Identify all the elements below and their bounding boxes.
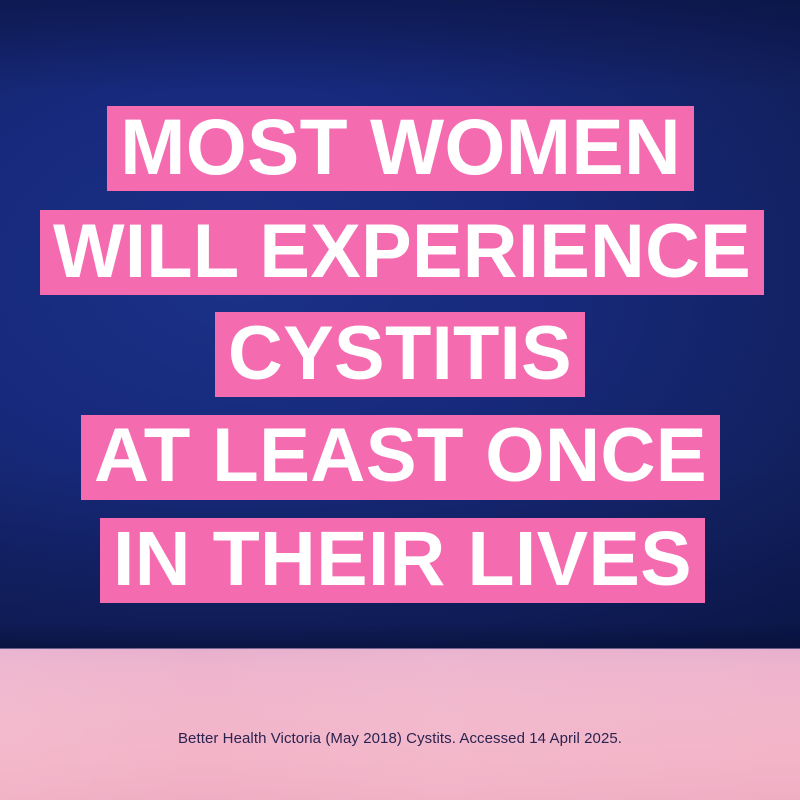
headline-bar-4: AT LEAST ONCE — [81, 415, 720, 500]
headline-line-4-text: AT LEAST ONCE — [94, 418, 707, 494]
headline-bar-2: WILL EXPERIENCE — [40, 210, 764, 295]
poster-canvas: MOST WOMEN WILL EXPERIENCE CYSTITIS AT L… — [0, 0, 800, 800]
headline-bar-1: MOST WOMEN — [107, 106, 694, 191]
headline-bar-3: CYSTITIS — [215, 312, 585, 397]
background-pink-sheen — [0, 649, 800, 800]
headline-line-5-text: IN THEIR LIVES — [113, 521, 692, 598]
headline-line-3-text: CYSTITIS — [228, 316, 572, 392]
headline-line-1-text: MOST WOMEN — [120, 108, 681, 186]
headline-bar-5: IN THEIR LIVES — [100, 518, 705, 603]
headline-block: MOST WOMEN WILL EXPERIENCE CYSTITIS AT L… — [0, 0, 800, 649]
source-credit: Better Health Victoria (May 2018) Cystit… — [0, 730, 800, 747]
headline-line-2-text: WILL EXPERIENCE — [53, 214, 751, 290]
